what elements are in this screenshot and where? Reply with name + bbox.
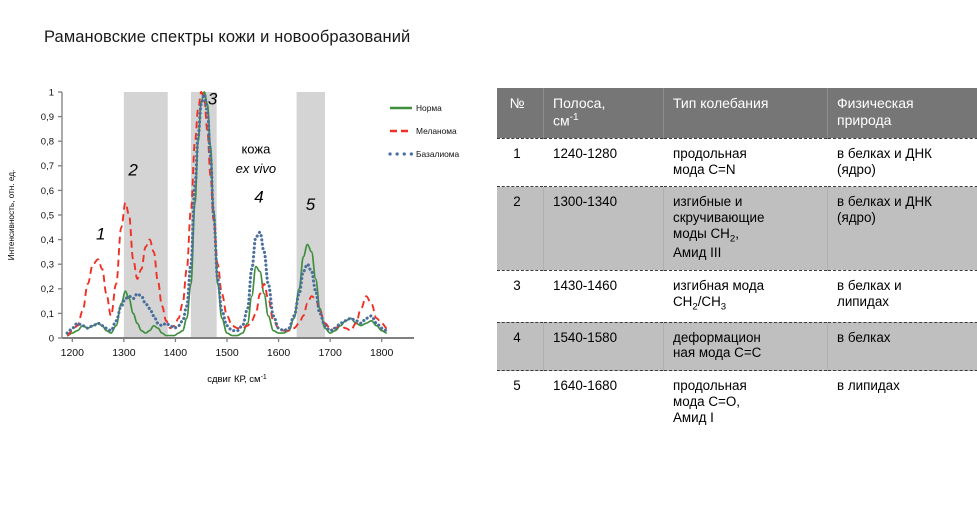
band-label-5: 5	[306, 195, 316, 214]
sample-annotation: кожа	[241, 142, 271, 157]
x-tick-label: 1200	[61, 347, 85, 359]
series-line-базалиома	[67, 94, 387, 333]
cell-physical-nature: в белках и ДНК(ядро)	[828, 187, 977, 270]
y-tick-label: 0,7	[41, 161, 54, 172]
y-axis-title: Интенсивность, отн. ед.	[7, 170, 16, 261]
table-row: 11240-1280продольнаямода C=Nв белках и Д…	[497, 138, 977, 187]
band-highlight-5	[297, 92, 325, 338]
raman-bands-table: № Полоса, см-1 Тип колебания Физическаяп…	[497, 88, 977, 435]
cell-band: 1640-1680	[544, 371, 664, 435]
y-tick-label: 0	[49, 333, 54, 344]
cell-physical-nature: в белках	[828, 322, 977, 371]
y-tick-label: 0,2	[41, 284, 54, 295]
band-label-4: 4	[254, 188, 263, 207]
table-row: 31430-1460изгибная модаCH2/CH3в белках и…	[497, 270, 977, 322]
y-tick-label: 0,1	[41, 309, 54, 320]
table-header: № Полоса, см-1 Тип колебания Физическаяп…	[497, 88, 977, 138]
cell-vibration-type: деформационная мода C=C	[664, 322, 828, 371]
y-tick-label: 0,3	[41, 260, 54, 271]
x-tick-label: 1800	[370, 347, 394, 359]
y-tick-label: 1	[49, 87, 54, 98]
cell-physical-nature: в липидах	[828, 371, 977, 435]
cell-number: 5	[497, 371, 544, 435]
y-tick-label: 0,5	[41, 210, 54, 221]
y-tick-label: 0,4	[41, 235, 54, 246]
chart-axes	[58, 92, 414, 342]
cell-number: 4	[497, 322, 544, 371]
cell-band: 1240-1280	[544, 138, 664, 187]
y-tick-label: 0,6	[41, 186, 54, 197]
band-label-3: 3	[208, 89, 218, 108]
table-row: 41540-1580деформационная мода C=Cв белка…	[497, 322, 977, 371]
cell-physical-nature: в белках илипидах	[828, 270, 977, 322]
cell-vibration-type: продольнаямода C=N	[664, 138, 828, 187]
cell-physical-nature: в белках и ДНК(ядро)	[828, 138, 977, 187]
x-axis-title: сдвиг КР, см-1	[207, 374, 267, 386]
series-line-норма	[67, 92, 387, 336]
series-line-меланома	[67, 92, 387, 336]
cell-number: 3	[497, 270, 544, 322]
cell-band: 1300-1340	[544, 187, 664, 270]
band-label-2: 2	[127, 161, 138, 180]
chart-canvas: 00,10,20,30,40,50,60,70,80,9112001300140…	[0, 80, 470, 390]
table-body: 11240-1280продольнаямода C=Nв белках и Д…	[497, 138, 977, 435]
page-title: Рамановские спектры кожи и новообразован…	[44, 28, 410, 47]
x-tick-label: 1500	[215, 347, 239, 359]
x-tick-label: 1400	[164, 347, 188, 359]
col-header-band: Полоса, см-1	[544, 88, 664, 138]
legend-label-норма: Норма	[416, 103, 442, 113]
x-tick-label: 1300	[112, 347, 136, 359]
col-header-band-exp: -1	[570, 112, 579, 123]
table-header-row: № Полоса, см-1 Тип колебания Физическаяп…	[497, 88, 977, 138]
cell-band: 1430-1460	[544, 270, 664, 322]
col-header-nature: Физическаяприрода	[828, 88, 977, 138]
legend-label-меланома: Меланома	[416, 126, 457, 136]
cell-vibration-type: изгибная модаCH2/CH3	[664, 270, 828, 322]
col-header-number: №	[497, 88, 544, 138]
table-row: 21300-1340изгибные искручивающиемоды CH2…	[497, 187, 977, 270]
sample-annotation: ex vivo	[236, 161, 276, 176]
chart-tick-labels: 00,10,20,30,40,50,60,70,80,9112001300140…	[41, 87, 394, 359]
band-label-1: 1	[96, 225, 105, 244]
col-header-band-unit: см	[553, 112, 570, 128]
cell-band: 1540-1580	[544, 322, 664, 371]
x-tick-label: 1600	[267, 347, 291, 359]
cell-number: 2	[497, 187, 544, 270]
x-tick-label: 1700	[318, 347, 342, 359]
legend-label-базалиома: Базалиома	[416, 149, 460, 159]
cell-number: 1	[497, 138, 544, 187]
table-row: 51640-1680продольнаямода C=O,Амид Iв лип…	[497, 371, 977, 435]
chart-series-group	[67, 92, 387, 336]
y-tick-label: 0,8	[41, 137, 54, 148]
cell-vibration-type: изгибные искручивающиемоды CH2,Амид III	[664, 187, 828, 270]
raman-spectra-chart: 00,10,20,30,40,50,60,70,80,9112001300140…	[0, 80, 470, 390]
chart-legend: НормаМеланомаБазалиома	[390, 103, 460, 159]
col-header-band-main: Полоса,	[553, 95, 605, 111]
y-tick-label: 0,9	[41, 112, 54, 123]
cell-vibration-type: продольнаямода C=O,Амид I	[664, 371, 828, 435]
col-header-type: Тип колебания	[664, 88, 828, 138]
